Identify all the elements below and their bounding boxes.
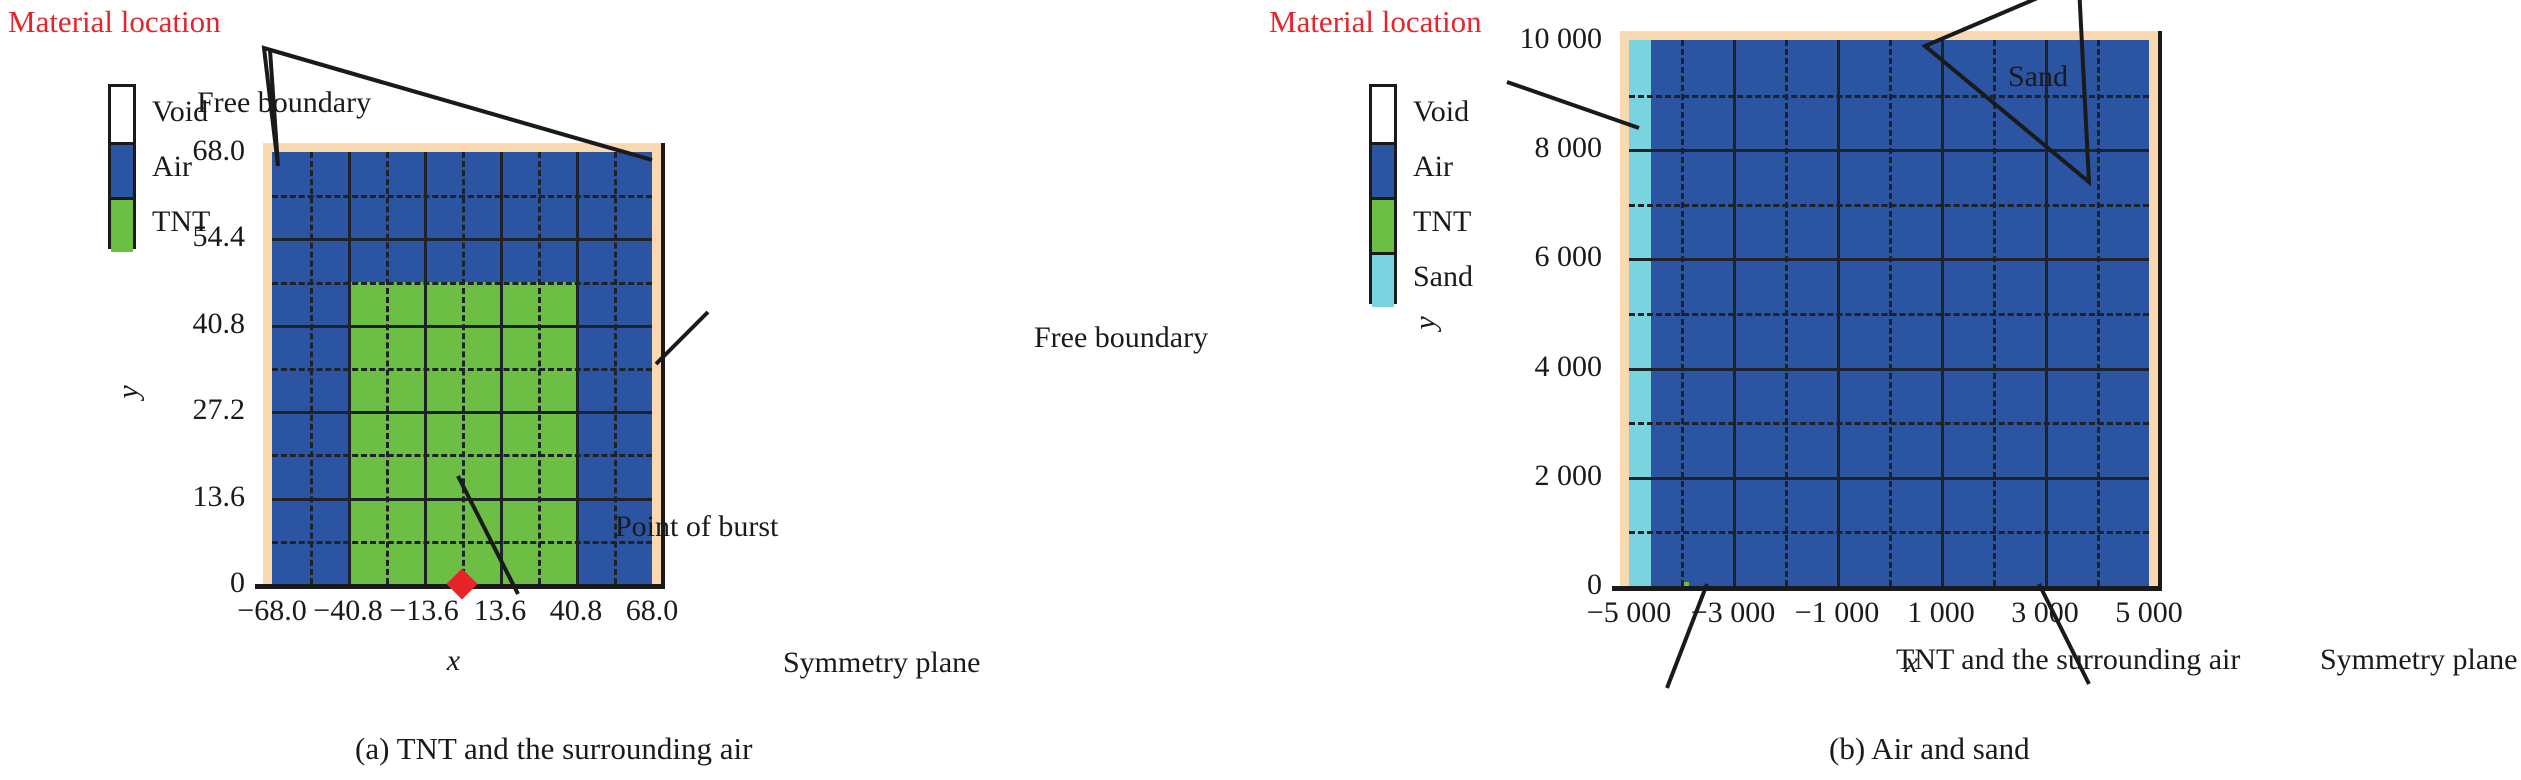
legend-swatch-tnt — [1372, 197, 1394, 252]
panel-a-symmetry-leader — [452, 464, 652, 664]
panel-a-symmetry-plane-label: Symmetry plane — [783, 648, 980, 678]
panel-a-free-boundary-right-label: Free boundary — [1034, 323, 1208, 353]
panel-b-plot: 10 0008 0006 0004 0002 0000−5 000−3 000−… — [1629, 40, 2149, 586]
panel-a-free-boundary-top-label: Free boundary — [197, 88, 371, 118]
panel-b: Material location VoidAirTNTSand 10 0008… — [1261, 0, 2521, 780]
panel-a-plot: 68.054.440.827.213.60−68.0−40.8−13.613.6… — [272, 152, 652, 584]
y-tick-label: 6 000 — [1464, 242, 1602, 272]
panel-b-symmetry-plane-label: Symmetry plane — [2320, 645, 2517, 675]
gridline-horizontal — [1629, 531, 2149, 534]
legend-label-air: Air — [1413, 152, 1453, 182]
gridline-horizontal — [1629, 313, 2149, 316]
panel-b-caption: (b) Air and sand — [1829, 733, 2030, 764]
y-axis-label: y — [1411, 316, 1441, 329]
legend-swatch-void — [1372, 87, 1394, 142]
legend-swatch-air — [1372, 142, 1394, 197]
panel-b-free-boundary-leader — [1889, 0, 2269, 280]
y-tick-label: 4 000 — [1464, 352, 1602, 382]
panel-b-legend-colorbar — [1369, 84, 1397, 304]
panel-b-legend-title: Material location — [1269, 6, 1482, 37]
panel-b-tnt-and-air-label: TNT and the surrounding air — [1896, 645, 2240, 675]
legend-label-tnt: TNT — [1413, 207, 1471, 237]
y-tick-label: 0 — [149, 568, 245, 598]
panel-b-tnt-leader — [1665, 580, 1865, 740]
panel-a: Material location VoidAirTNT 68.054.440.… — [0, 0, 1260, 780]
gridline-horizontal — [1629, 422, 2149, 425]
gridline-horizontal — [1629, 477, 2149, 480]
legend-swatch-sand — [1372, 252, 1394, 307]
y-tick-label: 2 000 — [1464, 461, 1602, 491]
y-tick-label: 10 000 — [1464, 24, 1602, 54]
y-tick-label: 0 — [1464, 570, 1602, 600]
panel-a-caption: (a) TNT and the surrounding air — [355, 733, 752, 764]
panel-a-point-of-burst-label: Point of burst — [615, 512, 778, 542]
legend-label-void: Void — [1413, 97, 1469, 127]
panel-b-sand-label: Sand — [2008, 62, 2068, 92]
gridline-horizontal — [1629, 368, 2149, 371]
panel-b-sand-leader — [1499, 80, 1699, 200]
